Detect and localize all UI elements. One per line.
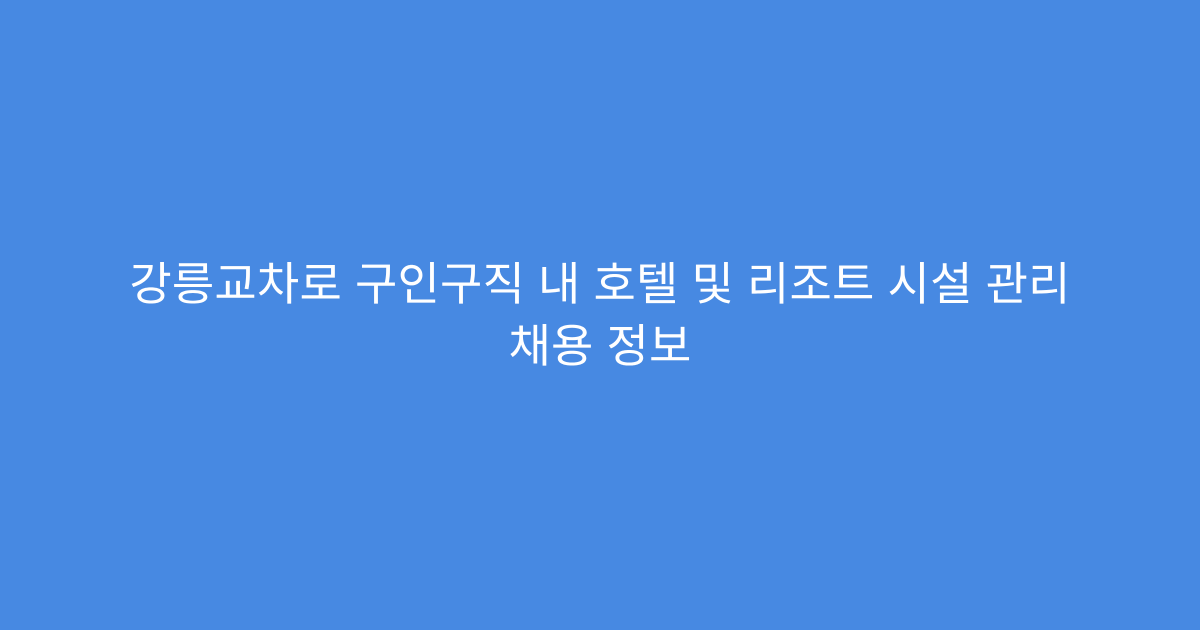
share-card-canvas: 강릉교차로 구인구직 내 호텔 및 리조트 시설 관리 채용 정보 [0, 0, 1200, 630]
headline-block: 강릉교차로 구인구직 내 호텔 및 리조트 시설 관리 채용 정보 [50, 253, 1150, 377]
page-title: 강릉교차로 구인구직 내 호텔 및 리조트 시설 관리 채용 정보 [90, 253, 1110, 377]
